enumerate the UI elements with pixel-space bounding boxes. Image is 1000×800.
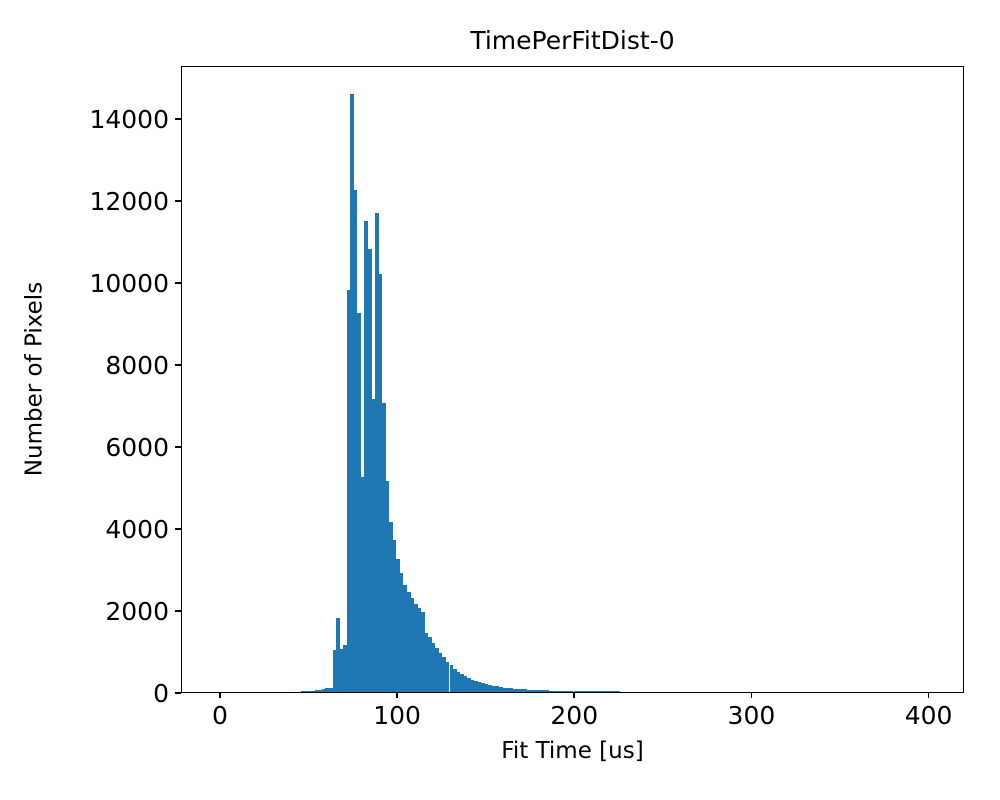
x-tick-label: 0 [212,701,228,731]
chart-title: TimePerFitDist-0 [181,26,964,56]
plot-axes-frame [181,66,964,693]
y-tick-label: 0 [153,681,169,706]
y-tick-label: 12000 [89,189,169,214]
y-tick-label: 10000 [89,271,169,296]
x-tick-label: 200 [550,701,598,731]
histogram-bars [182,67,963,692]
y-tick-label: 4000 [105,517,169,542]
y-axis-label: Number of Pixels [18,66,52,693]
histogram-bar [662,692,666,693]
y-tick-label: 2000 [105,599,169,624]
x-tick-label: 400 [905,701,953,731]
x-tick-label: 100 [373,701,421,731]
x-axis-label: Fit Time [us] [181,737,964,765]
y-tick-label: 6000 [105,435,169,460]
x-tick-label: 300 [728,701,776,731]
chart-figure: TimePerFitDist-0 02000400060008000100001… [0,0,1000,800]
y-tick-label: 8000 [105,353,169,378]
y-tick-label: 14000 [89,107,169,132]
